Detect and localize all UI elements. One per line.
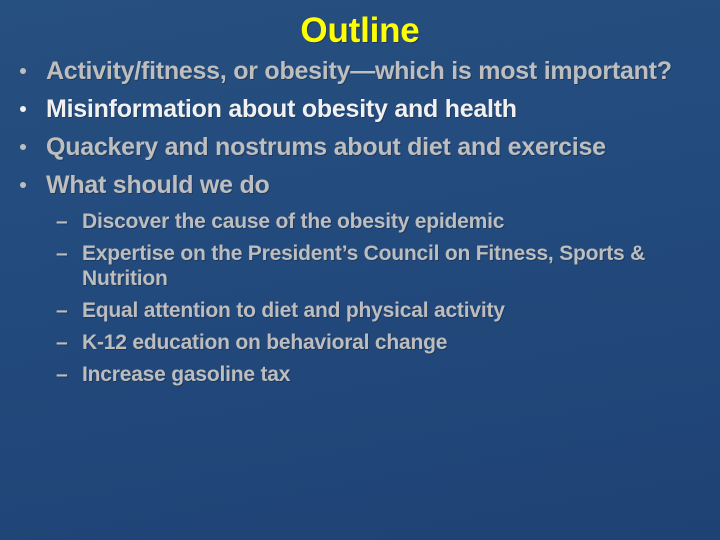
dash-marker-icon: –: [56, 298, 67, 323]
sub-bullet-item-label: Increase gasoline tax: [82, 362, 698, 387]
dash-marker-icon: –: [56, 241, 67, 266]
dash-marker-icon: –: [56, 362, 67, 387]
sub-bullet-item: – Discover the cause of the obesity epid…: [0, 209, 720, 234]
sub-bullet-item: – Increase gasoline tax: [0, 362, 720, 387]
presentation-slide: Outline Activity/fitness, or obesity—whi…: [0, 0, 720, 540]
bullet-dot-icon: [20, 144, 26, 150]
dash-marker-icon: –: [56, 330, 67, 355]
bullet-dot-icon: [20, 106, 26, 112]
sub-bullet-item-label: Discover the cause of the obesity epidem…: [82, 209, 698, 234]
slide-title: Outline: [0, 11, 720, 51]
sub-bullet-group: – Discover the cause of the obesity epid…: [0, 209, 720, 387]
sub-bullet-item: – Equal attention to diet and physical a…: [0, 298, 720, 323]
bullet-item: What should we do: [0, 171, 720, 199]
bullet-item: Quackery and nostrums about diet and exe…: [0, 133, 720, 161]
sub-bullet-item-label: Equal attention to diet and physical act…: [82, 298, 698, 323]
bullet-item-label: Misinformation about obesity and health: [46, 95, 698, 123]
bullet-dot-icon: [20, 182, 26, 188]
bullet-item-label: Quackery and nostrums about diet and exe…: [46, 133, 698, 161]
dash-marker-icon: –: [56, 209, 67, 234]
sub-bullet-item-label: K-12 education on behavioral change: [82, 330, 698, 355]
bullet-item-label: Activity/fitness, or obesity—which is mo…: [46, 57, 698, 85]
sub-bullet-item: – K-12 education on behavioral change: [0, 330, 720, 355]
bullet-dot-icon: [20, 68, 26, 74]
bullet-item: Activity/fitness, or obesity—which is mo…: [0, 57, 720, 85]
bullet-item: Misinformation about obesity and health: [0, 95, 720, 123]
bullet-item-label: What should we do: [46, 171, 698, 199]
sub-bullet-item: – Expertise on the President’s Council o…: [0, 241, 720, 291]
sub-bullet-item-label: Expertise on the President’s Council on …: [82, 241, 698, 291]
slide-body-content: Activity/fitness, or obesity—which is mo…: [0, 57, 720, 394]
